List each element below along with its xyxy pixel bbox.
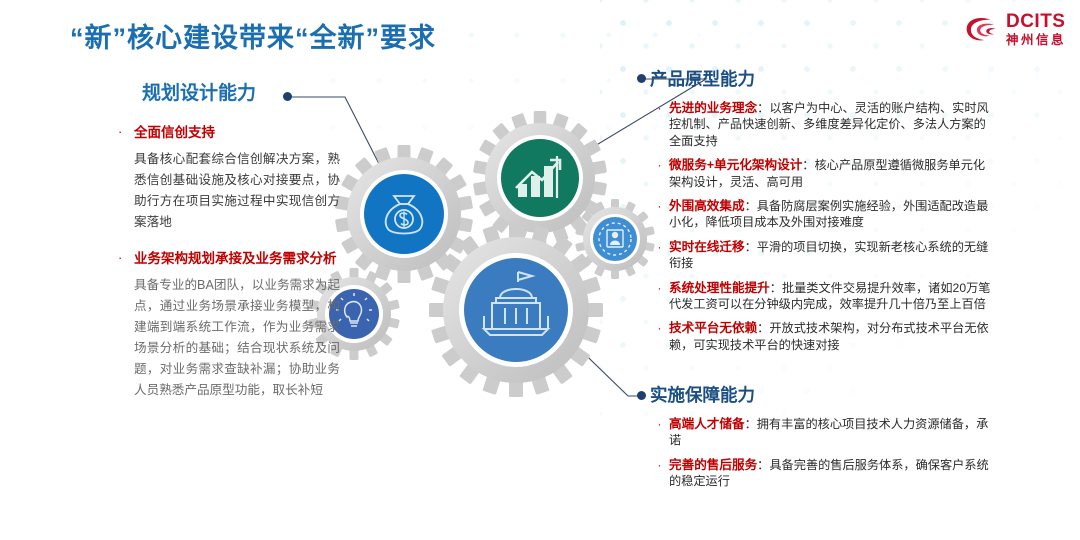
capability-item-text: 微服务+单元化架构设计：核心产品原型遵循微服务单元化架构设计，灵活、高可用 (669, 157, 995, 190)
connector-node-implementation (637, 391, 646, 400)
capability-item: ·先进的业务理念：以客户为中心、灵活的账户结构、实时风控机制、产品快速创新、多维… (650, 100, 995, 149)
slide-canvas: “新”核心建设带来“全新”要求 DCITS 神州信息 (0, 0, 1080, 540)
gear-money-bag (335, 145, 473, 283)
bullet-icon: · (650, 320, 669, 353)
bullet-icon: · (650, 280, 669, 313)
gear-user-badge (575, 199, 655, 279)
capability-item-key: 实时在线迁移 (669, 240, 745, 254)
capability-item: ·高端人才储备：拥有丰富的核心项目技术人力资源储备，承诺 (650, 416, 995, 449)
capability-item: ·完善的售后服务：具备完善的售后服务体系，确保客户系统的稳定运行 (650, 457, 995, 490)
bullet-icon: · (650, 457, 669, 490)
capability-item-text: 技术平台无依赖：开放式技术架构，对分布式技术平台无依赖，可实现技术平台的快速对接 (669, 320, 995, 353)
bullet-icon: · (650, 416, 669, 449)
left-item-1-title: 全面信创支持 (134, 123, 215, 143)
product-prototype-column: 产品原型能力 ·先进的业务理念：以客户为中心、灵活的账户结构、实时风控机制、产品… (650, 66, 995, 361)
capability-item: ·实时在线迁移：平滑的项目切换，实现新老核心系统的无缝衔接 (650, 239, 995, 272)
capability-item-text: 外围高效集成：具备防腐层案例实施经验，外围适配改造最小化，降低项目成本及外围对接… (669, 198, 995, 231)
capability-item-key: 高端人才储备 (669, 417, 745, 431)
capability-item-key: 外围高效集成 (669, 199, 745, 213)
brand-logo: DCITS 神州信息 (965, 12, 1066, 47)
capability-item-key: 先进的业务理念 (669, 101, 757, 115)
user-badge-icon (599, 223, 631, 255)
bottom-spacer (0, 534, 1080, 540)
bullet-icon: · (650, 198, 669, 231)
left-capability-column: 规划设计能力 · 全面信创支持 具备核心配套综合信创解决方案，熟悉信创基础设施及… (118, 78, 340, 417)
capability-item-separator: ： (770, 281, 782, 295)
left-section-heading: 规划设计能力 (142, 78, 340, 105)
brand-name-en: DCITS (1006, 12, 1066, 31)
gear-bank (429, 223, 603, 397)
capability-item: ·系统处理性能提升：批量类文件交易提升效率，诸如20万笔代发工资可以在分钟级内完… (650, 280, 995, 313)
left-item-2-title: 业务架构规划承接及业务需求分析 (134, 249, 337, 269)
implementation-section-heading: 实施保障能力 (650, 382, 995, 407)
capability-item-separator: ： (802, 158, 814, 172)
capability-item-separator: ： (745, 240, 757, 254)
capability-item-separator: ： (757, 101, 769, 115)
lightbulb-icon (336, 293, 372, 326)
gear-growth-chart (473, 111, 607, 245)
left-item-2-header: · 业务架构规划承接及业务需求分析 (118, 249, 340, 269)
capability-item: ·外围高效集成：具备防腐层案例实施经验，外围适配改造最小化，降低项目成本及外围对… (650, 198, 995, 231)
capability-item-separator: ： (757, 321, 769, 335)
bar-chart-up-icon (516, 156, 560, 198)
capability-item-key: 微服务+单元化架构设计 (669, 158, 802, 172)
connector-node-product (637, 74, 646, 83)
capability-item-text: 实时在线迁移：平滑的项目切换，实现新老核心系统的无缝衔接 (669, 239, 995, 272)
left-item-1-header: · 全面信创支持 (118, 123, 340, 143)
implementation-item-list: ·高端人才储备：拥有丰富的核心项目技术人力资源储备，承诺·完善的售后服务：具备完… (650, 416, 995, 490)
implementation-column: 实施保障能力 ·高端人才储备：拥有丰富的核心项目技术人力资源储备，承诺·完善的售… (650, 382, 995, 498)
bullet-icon: · (650, 100, 669, 149)
bullet-icon: · (118, 123, 134, 143)
bullet-icon: · (650, 157, 669, 190)
dcits-swirl-icon (965, 14, 999, 44)
left-item-2-body: 具备专业的BA团队，以业务需求为起点，通过业务场景承接业务模型，构建端到端系统工… (134, 275, 340, 401)
bullet-icon: · (118, 249, 134, 269)
capability-item-separator: ： (745, 417, 757, 431)
capability-item-text: 系统处理性能提升：批量类文件交易提升效率，诸如20万笔代发工资可以在分钟级内完成… (669, 280, 995, 313)
brand-name-cn: 神州信息 (1006, 34, 1066, 47)
capability-item-key: 完善的售后服务 (669, 458, 757, 472)
page-title: “新”核心建设带来“全新”要求 (70, 16, 436, 55)
capability-item-key: 系统处理性能提升 (669, 281, 770, 295)
capability-item: ·技术平台无依赖：开放式技术架构，对分布式技术平台无依赖，可实现技术平台的快速对… (650, 320, 995, 353)
product-section-heading: 产品原型能力 (650, 66, 995, 91)
product-item-list: ·先进的业务理念：以客户为中心、灵活的账户结构、实时风控机制、产品快速创新、多维… (650, 100, 995, 353)
capability-item-separator: ： (757, 458, 769, 472)
capability-item-separator: ： (745, 199, 757, 213)
capability-item-text: 完善的售后服务：具备完善的售后服务体系，确保客户系统的稳定运行 (669, 457, 995, 490)
money-bag-icon (386, 196, 423, 234)
capability-item: ·微服务+单元化架构设计：核心产品原型遵循微服务单元化架构设计，灵活、高可用 (650, 157, 995, 190)
capability-item-text: 高端人才储备：拥有丰富的核心项目技术人力资源储备，承诺 (669, 416, 995, 449)
capability-item-key: 技术平台无依赖 (669, 321, 757, 335)
capability-item-text: 先进的业务理念：以客户为中心、灵活的账户结构、实时风控机制、产品快速创新、多维度… (669, 100, 995, 149)
bullet-icon: · (650, 239, 669, 272)
bank-building-icon (484, 272, 548, 335)
left-item-1-body: 具备核心配套综合信创解决方案，熟悉信创基础设施及核心对接要点，协助行方在项目实施… (134, 149, 340, 233)
